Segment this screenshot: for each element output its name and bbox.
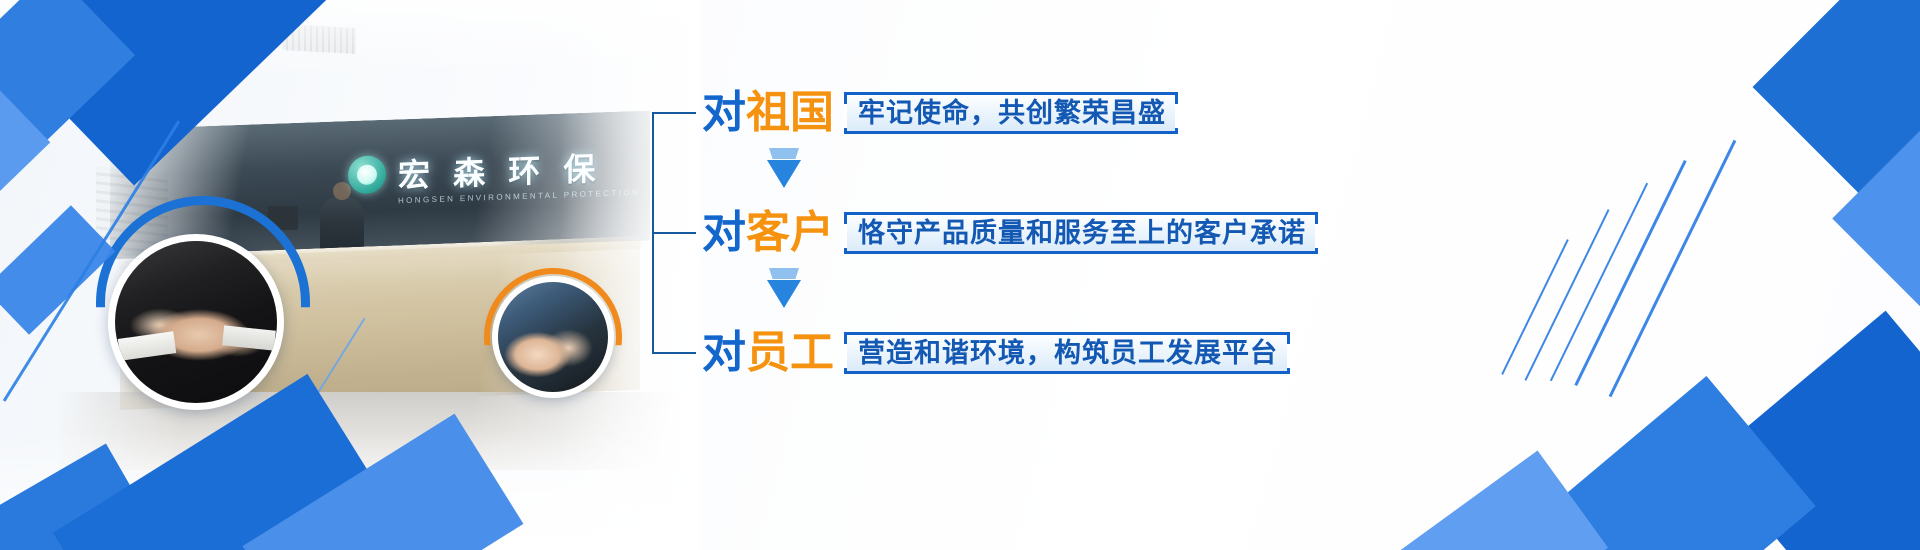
decor-diagonal-line-right-3 bbox=[1524, 209, 1609, 381]
lobby-floor bbox=[60, 392, 680, 470]
value-label-customer: 对客户 bbox=[702, 211, 834, 255]
value-prefix: 对 bbox=[702, 327, 746, 378]
values-text-block: 对祖国 牢记使命，共创繁荣昌盛 对客户 恪守产品质量和服务至上的客户承诺 bbox=[652, 78, 1512, 388]
globe-leaf-logo-icon bbox=[348, 155, 386, 194]
value-label-employee: 对员工 bbox=[702, 331, 834, 375]
value-statement-text: 牢记使命，共创繁荣昌盛 bbox=[858, 100, 1166, 127]
arrow-down-icon bbox=[764, 268, 804, 310]
connector-tick-icon bbox=[652, 352, 696, 354]
value-prefix: 对 bbox=[702, 87, 746, 138]
decor-diagonal-line-right-5 bbox=[1609, 140, 1737, 397]
arrow-down-icon bbox=[764, 148, 804, 190]
value-prefix: 对 bbox=[702, 207, 746, 258]
value-statement-text: 营造和谐环境，构筑员工发展平台 bbox=[858, 340, 1278, 367]
values-banner: 宏 森 环 保 HONGSEN ENVIRONMENTAL PROTECTION bbox=[0, 0, 1920, 550]
value-target: 客户 bbox=[746, 207, 834, 258]
value-statement-box-nation: 牢记使命，共创繁荣昌盛 bbox=[844, 92, 1178, 134]
value-row-employee: 对员工 营造和谐环境，构筑员工发展平台 bbox=[652, 326, 1290, 380]
value-target: 祖国 bbox=[746, 87, 834, 138]
connector-tick-icon bbox=[652, 112, 696, 114]
arrow-triangle bbox=[767, 280, 801, 308]
company-sign-text: 宏 森 环 保 bbox=[398, 144, 601, 197]
arrow-cap bbox=[769, 148, 799, 159]
value-statement-box-employee: 营造和谐环境，构筑员工发展平台 bbox=[844, 332, 1290, 374]
connector-tick-icon bbox=[652, 232, 696, 234]
value-target: 员工 bbox=[746, 327, 834, 378]
value-row-nation: 对祖国 牢记使命，共创繁荣昌盛 bbox=[652, 86, 1178, 140]
arrow-triangle bbox=[767, 160, 801, 188]
value-statement-text: 恪守产品质量和服务至上的客户承诺 bbox=[858, 220, 1306, 247]
value-statement-box-customer: 恪守产品质量和服务至上的客户承诺 bbox=[844, 212, 1318, 254]
value-label-nation: 对祖国 bbox=[702, 91, 834, 135]
value-row-customer: 对客户 恪守产品质量和服务至上的客户承诺 bbox=[652, 206, 1318, 260]
arrow-cap bbox=[769, 268, 799, 279]
